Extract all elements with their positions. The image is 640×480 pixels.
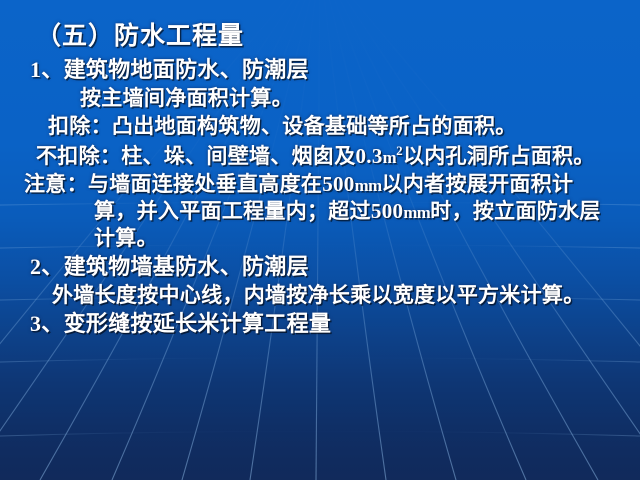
no-deduction-area-unit: m: [383, 148, 396, 167]
no-deduction-area-exponent: 2: [396, 143, 403, 158]
list-item-1-deduction: 扣除：凸出地面构筑物、设备基础等所占的面积。: [8, 116, 632, 137]
note-a-height-value: 500: [322, 172, 354, 196]
list-item-2: 2、建筑物墙基防水、防潮层: [8, 256, 632, 278]
list-item-1-note-line-2: 算，并入平面工程量内；超过500mm时，按立面防水层: [8, 201, 632, 222]
no-deduction-area-value: 0.3: [356, 144, 383, 168]
slide-text-content: （五）防水工程量 1、建筑物地面防水、防潮层 按主墙间净面积计算。 扣除：凸出地…: [0, 0, 640, 335]
list-item-3: 3、变形缝按延长米计算工程量: [8, 313, 632, 335]
page-title: （五）防水工程量: [8, 24, 632, 49]
list-item-1-detail-1: 按主墙间净面积计算。: [8, 88, 632, 109]
note-b-height-value: 500: [371, 199, 403, 223]
list-item-1: 1、建筑物地面防水、防潮层: [8, 59, 632, 81]
list-item-1-note-line-3: 计算。: [8, 228, 632, 249]
note-b-suffix: 时，按立面防水层: [430, 199, 600, 223]
list-item-1-note-line-1: 注意：与墙面连接处垂直高度在500mm以内者按展开面积计: [8, 174, 632, 195]
note-b-height-unit: mm: [403, 203, 430, 222]
list-item-2-detail-1: 外墙长度按中心线，内墙按净长乘以宽度以平方米计算。: [8, 285, 632, 306]
list-item-1-no-deduction: 不扣除：柱、垛、间壁墙、烟囱及0.3m2以内孔洞所占面积。: [8, 144, 632, 167]
note-b-prefix: 算，并入平面工程量内；超过: [94, 199, 371, 223]
presentation-slide: （五）防水工程量 1、建筑物地面防水、防潮层 按主墙间净面积计算。 扣除：凸出地…: [0, 0, 640, 480]
note-a-suffix: 以内者按展开面积计: [382, 172, 574, 196]
no-deduction-suffix: 以内孔洞所占面积。: [403, 144, 595, 168]
no-deduction-prefix: 不扣除：柱、垛、间壁墙、烟囱及: [36, 144, 356, 168]
note-a-prefix: 注意：与墙面连接处垂直高度在: [24, 172, 322, 196]
note-a-height-unit: mm: [355, 176, 382, 195]
